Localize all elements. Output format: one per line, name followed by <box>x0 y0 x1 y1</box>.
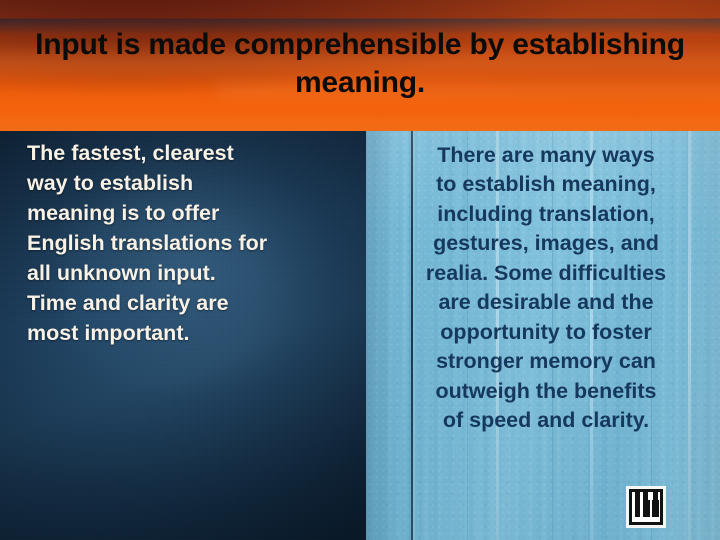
presentation-slide: Input is made comprehensible by establis… <box>0 0 720 540</box>
piano-black-key <box>643 500 650 517</box>
piano-keys-icon <box>626 486 666 528</box>
right-content-panel: There are many ways to establish meaning… <box>366 131 720 540</box>
left-content-panel: The fastest, clearest way to establish m… <box>0 131 366 540</box>
left-panel-body-text: The fastest, clearest way to establish m… <box>27 139 337 349</box>
header-bottom-glow <box>0 116 720 132</box>
right-panel-body-text: There are many ways to establish meaning… <box>386 141 706 436</box>
piano-keys-icon-frame <box>629 489 663 525</box>
piano-black-key <box>635 492 640 517</box>
slide-title: Input is made comprehensible by establis… <box>0 26 720 102</box>
piano-black-key <box>652 500 659 517</box>
